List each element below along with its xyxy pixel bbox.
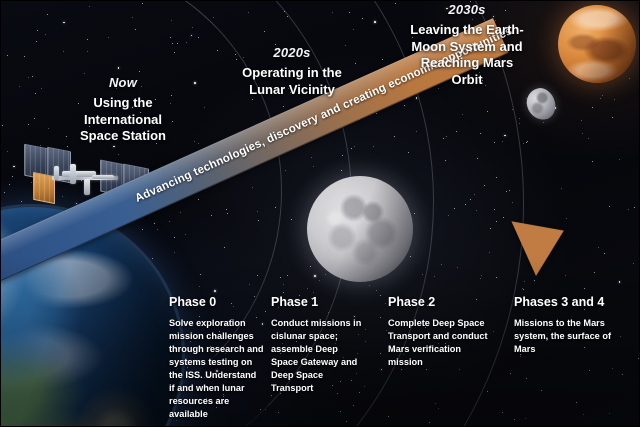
era-now-when: Now xyxy=(48,75,198,90)
phase-block-1: Phase 1 Conduct missions in cislunar spa… xyxy=(271,295,367,395)
era-2030s-what: Leaving the Earth-Moon System andReachin… xyxy=(374,22,560,89)
phase-block-2: Phase 2 Complete Deep Space Transport an… xyxy=(388,295,488,369)
era-2030s-when: 2030s xyxy=(374,2,560,17)
journey-to-mars-diagram: Advancing technologies, discovery and cr… xyxy=(0,0,640,427)
phase-0-body: Solve exploration mission challenges thr… xyxy=(169,317,264,422)
era-2020s-what: Operating in theLunar Vicinity xyxy=(204,65,380,98)
arrow-head xyxy=(511,203,576,276)
phase-block-34: Phases 3 and 4 Missions to the Mars syst… xyxy=(514,295,626,356)
phase-2-title: Phase 2 xyxy=(388,295,488,310)
phase-block-0: Phase 0 Solve exploration mission challe… xyxy=(169,295,264,422)
phase-2-body: Complete Deep Space Transport and conduc… xyxy=(388,317,488,369)
era-now: Now Using theInternationalSpace Station xyxy=(48,75,198,145)
era-now-what: Using theInternationalSpace Station xyxy=(48,95,198,145)
phase-1-title: Phase 1 xyxy=(271,295,367,310)
era-2020s: 2020s Operating in theLunar Vicinity xyxy=(204,45,380,98)
era-2020s-when: 2020s xyxy=(204,45,380,60)
era-2030s: 2030s Leaving the Earth-Moon System andR… xyxy=(374,2,560,89)
phase-34-title: Phases 3 and 4 xyxy=(514,295,626,310)
phase-34-body: Missions to the Mars system, the surface… xyxy=(514,317,626,356)
phase-1-body: Conduct missions in cislunar space; asse… xyxy=(271,317,367,395)
phase-0-title: Phase 0 xyxy=(169,295,264,310)
